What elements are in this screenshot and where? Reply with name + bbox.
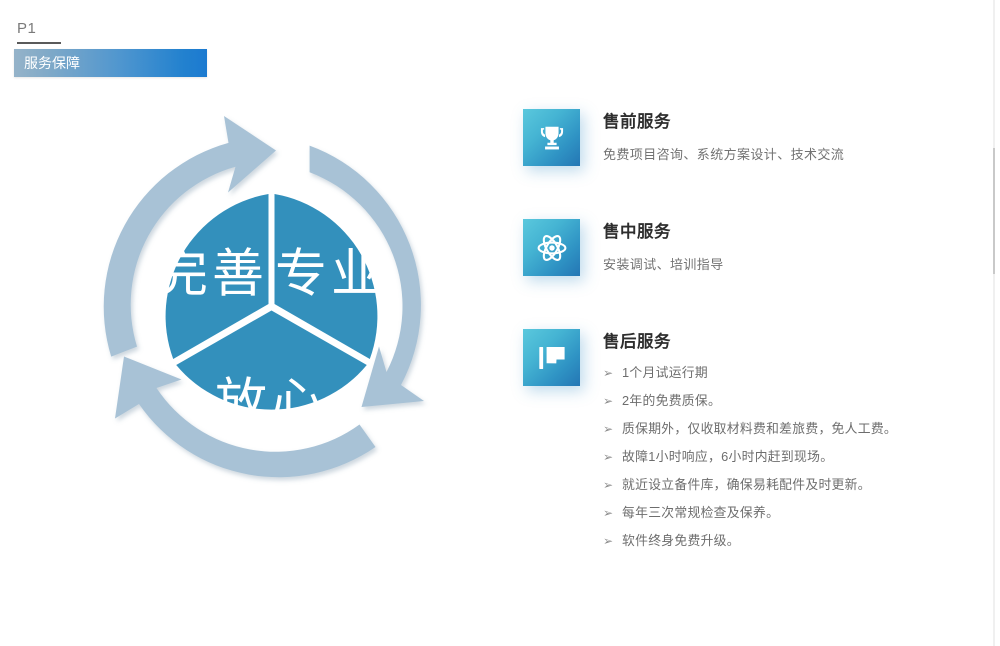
cycle-segment-label-professional: 专业	[275, 246, 387, 304]
list-item-label: 1个月试运行期	[622, 365, 708, 380]
list-item: ➢ 2年的免费质保。	[603, 387, 973, 415]
flag-icon	[537, 344, 567, 372]
cycle-segment-label-perfect: 完善	[156, 246, 268, 304]
list-item-label: 就近设立备件库，确保易耗配件及时更新。	[622, 477, 871, 492]
service-icon-tile-after-sales	[523, 329, 580, 386]
list-item: ➢ 质保期外，仅收取材料费和差旅费，免人工费。	[603, 415, 973, 443]
list-item-label: 故障1小时响应，6小时内赶到现场。	[622, 449, 833, 464]
page-scrollbar-track[interactable]	[993, 0, 995, 646]
title-banner: 服务保障	[14, 49, 207, 77]
bullet-arrow-icon: ➢	[603, 499, 613, 527]
bullet-arrow-icon: ➢	[603, 387, 613, 415]
page-scrollbar-thumb[interactable]	[993, 148, 995, 274]
bullet-arrow-icon: ➢	[603, 415, 613, 443]
service-cycle-diagram: 完善 专业 放心	[62, 102, 480, 520]
list-item-label: 质保期外，仅收取材料费和差旅费，免人工费。	[622, 421, 897, 436]
service-body-in-sales: 售中服务 安装调试、培训指导	[603, 219, 973, 274]
bullet-arrow-icon: ➢	[603, 527, 613, 555]
list-item-label: 软件终身免费升级。	[622, 533, 740, 548]
after-sales-bullet-list: ➢ 1个月试运行期 ➢ 2年的免费质保。 ➢ 质保期外，仅收取材料费和差旅费，免…	[603, 359, 973, 555]
list-item: ➢ 1个月试运行期	[603, 359, 973, 387]
bullet-arrow-icon: ➢	[603, 471, 613, 499]
bullet-arrow-icon: ➢	[603, 359, 613, 387]
page-label-underline	[17, 42, 61, 44]
list-item: ➢ 软件终身免费升级。	[603, 527, 973, 555]
service-list: 售前服务 免费项目咨询、系统方案设计、技术交流 售中服务 安装调试、培训指导	[523, 109, 973, 583]
service-body-pre-sales: 售前服务 免费项目咨询、系统方案设计、技术交流	[603, 109, 973, 164]
service-description: 免费项目咨询、系统方案设计、技术交流	[603, 145, 973, 164]
list-item: ➢ 每年三次常规检查及保养。	[603, 499, 973, 527]
page-label: P1	[17, 20, 36, 38]
cycle-segment-label-reassuring: 放心	[215, 375, 327, 433]
service-icon-tile-in-sales	[523, 219, 580, 276]
list-item-label: 2年的免费质保。	[622, 393, 721, 408]
title-banner-label: 服务保障	[24, 54, 80, 72]
service-item-in-sales: 售中服务 安装调试、培训指导	[523, 219, 973, 301]
service-body-after-sales: 售后服务 ➢ 1个月试运行期 ➢ 2年的免费质保。 ➢ 质保期外，仅收取材料费和…	[603, 329, 973, 555]
service-title: 售前服务	[603, 111, 973, 133]
atom-icon	[536, 232, 568, 264]
service-title: 售后服务	[603, 331, 973, 353]
bullet-arrow-icon: ➢	[603, 443, 613, 471]
service-description: 安装调试、培训指导	[603, 255, 973, 274]
list-item-label: 每年三次常规检查及保养。	[622, 505, 779, 520]
trophy-icon	[537, 123, 567, 153]
list-item: ➢ 就近设立备件库，确保易耗配件及时更新。	[603, 471, 973, 499]
service-item-after-sales: 售后服务 ➢ 1个月试运行期 ➢ 2年的免费质保。 ➢ 质保期外，仅收取材料费和…	[523, 329, 973, 555]
service-title: 售中服务	[603, 221, 973, 243]
service-icon-tile-pre-sales	[523, 109, 580, 166]
list-item: ➢ 故障1小时响应，6小时内赶到现场。	[603, 443, 973, 471]
service-item-pre-sales: 售前服务 免费项目咨询、系统方案设计、技术交流	[523, 109, 973, 191]
